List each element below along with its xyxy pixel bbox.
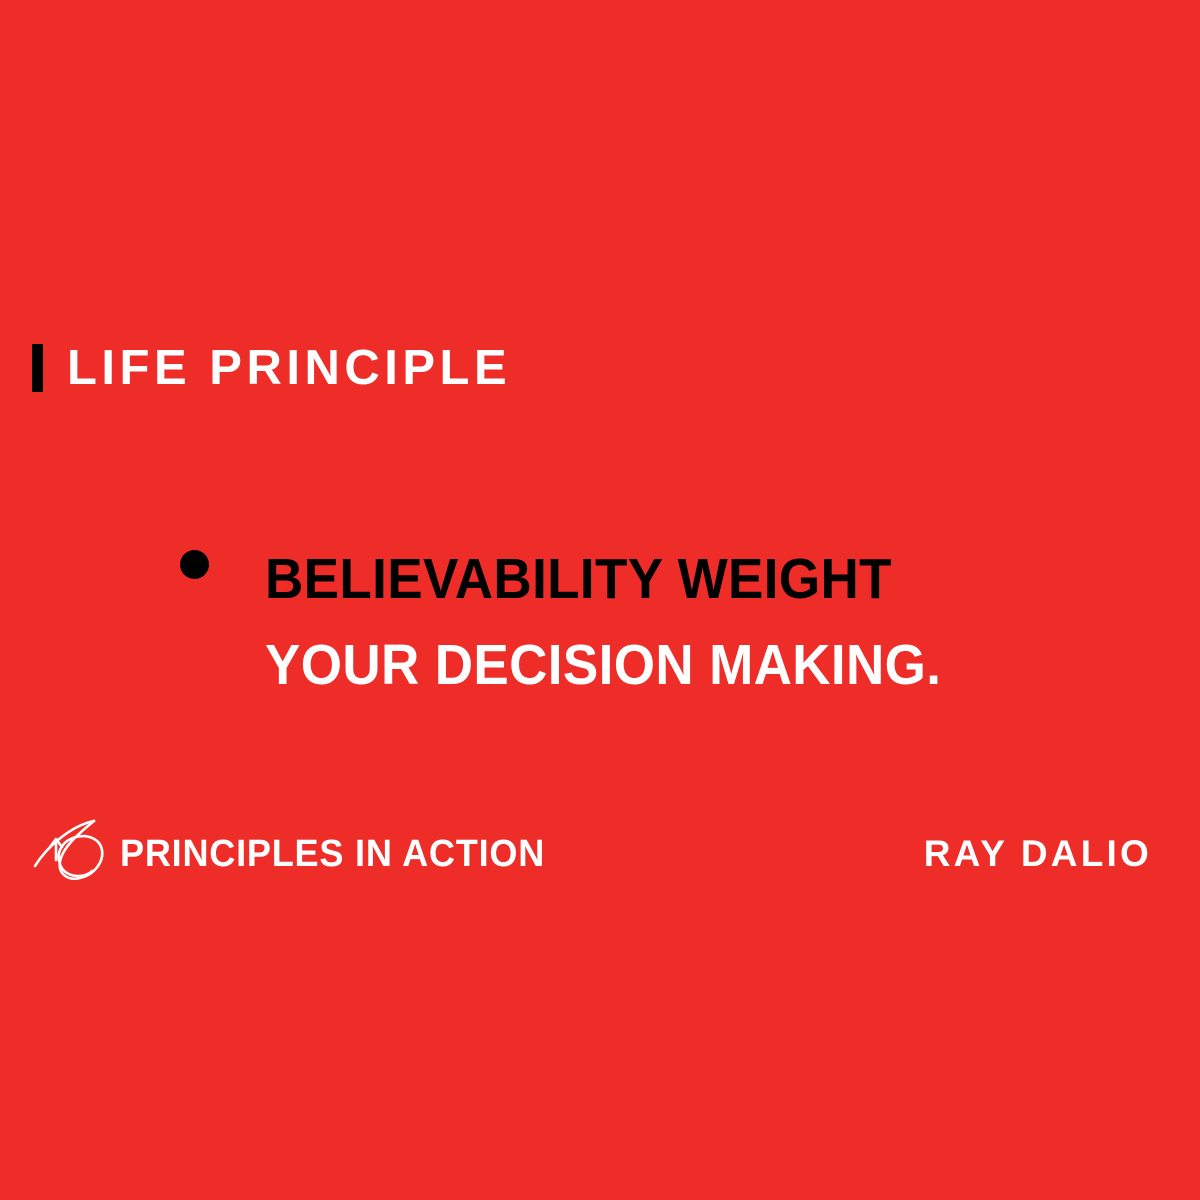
bullet-point-icon bbox=[180, 550, 209, 579]
principle-statement: BELIEVABILITY WEIGHT YOUR DECISION MAKIN… bbox=[180, 536, 1160, 708]
footer: PRINCIPLES IN ACTION RAY DALIO bbox=[32, 818, 1152, 890]
principles-swirl-arrow-icon bbox=[32, 818, 118, 890]
author-name: RAY DALIO bbox=[924, 833, 1152, 875]
statement-lines: BELIEVABILITY WEIGHT YOUR DECISION MAKIN… bbox=[265, 536, 992, 708]
principle-card: LIFE PRINCIPLE BELIEVABILITY WEIGHT YOUR… bbox=[0, 0, 1200, 1200]
statement-line-1: BELIEVABILITY WEIGHT bbox=[265, 536, 941, 622]
brand-lockup: PRINCIPLES IN ACTION bbox=[32, 818, 567, 890]
brand-name: PRINCIPLES IN ACTION bbox=[120, 833, 545, 876]
accent-bar-icon bbox=[32, 344, 43, 392]
statement-line-2: YOUR DECISION MAKING. bbox=[265, 622, 941, 708]
eyebrow: LIFE PRINCIPLE bbox=[32, 344, 511, 392]
statement-row: BELIEVABILITY WEIGHT YOUR DECISION MAKIN… bbox=[180, 536, 1160, 708]
eyebrow-label: LIFE PRINCIPLE bbox=[67, 344, 511, 392]
